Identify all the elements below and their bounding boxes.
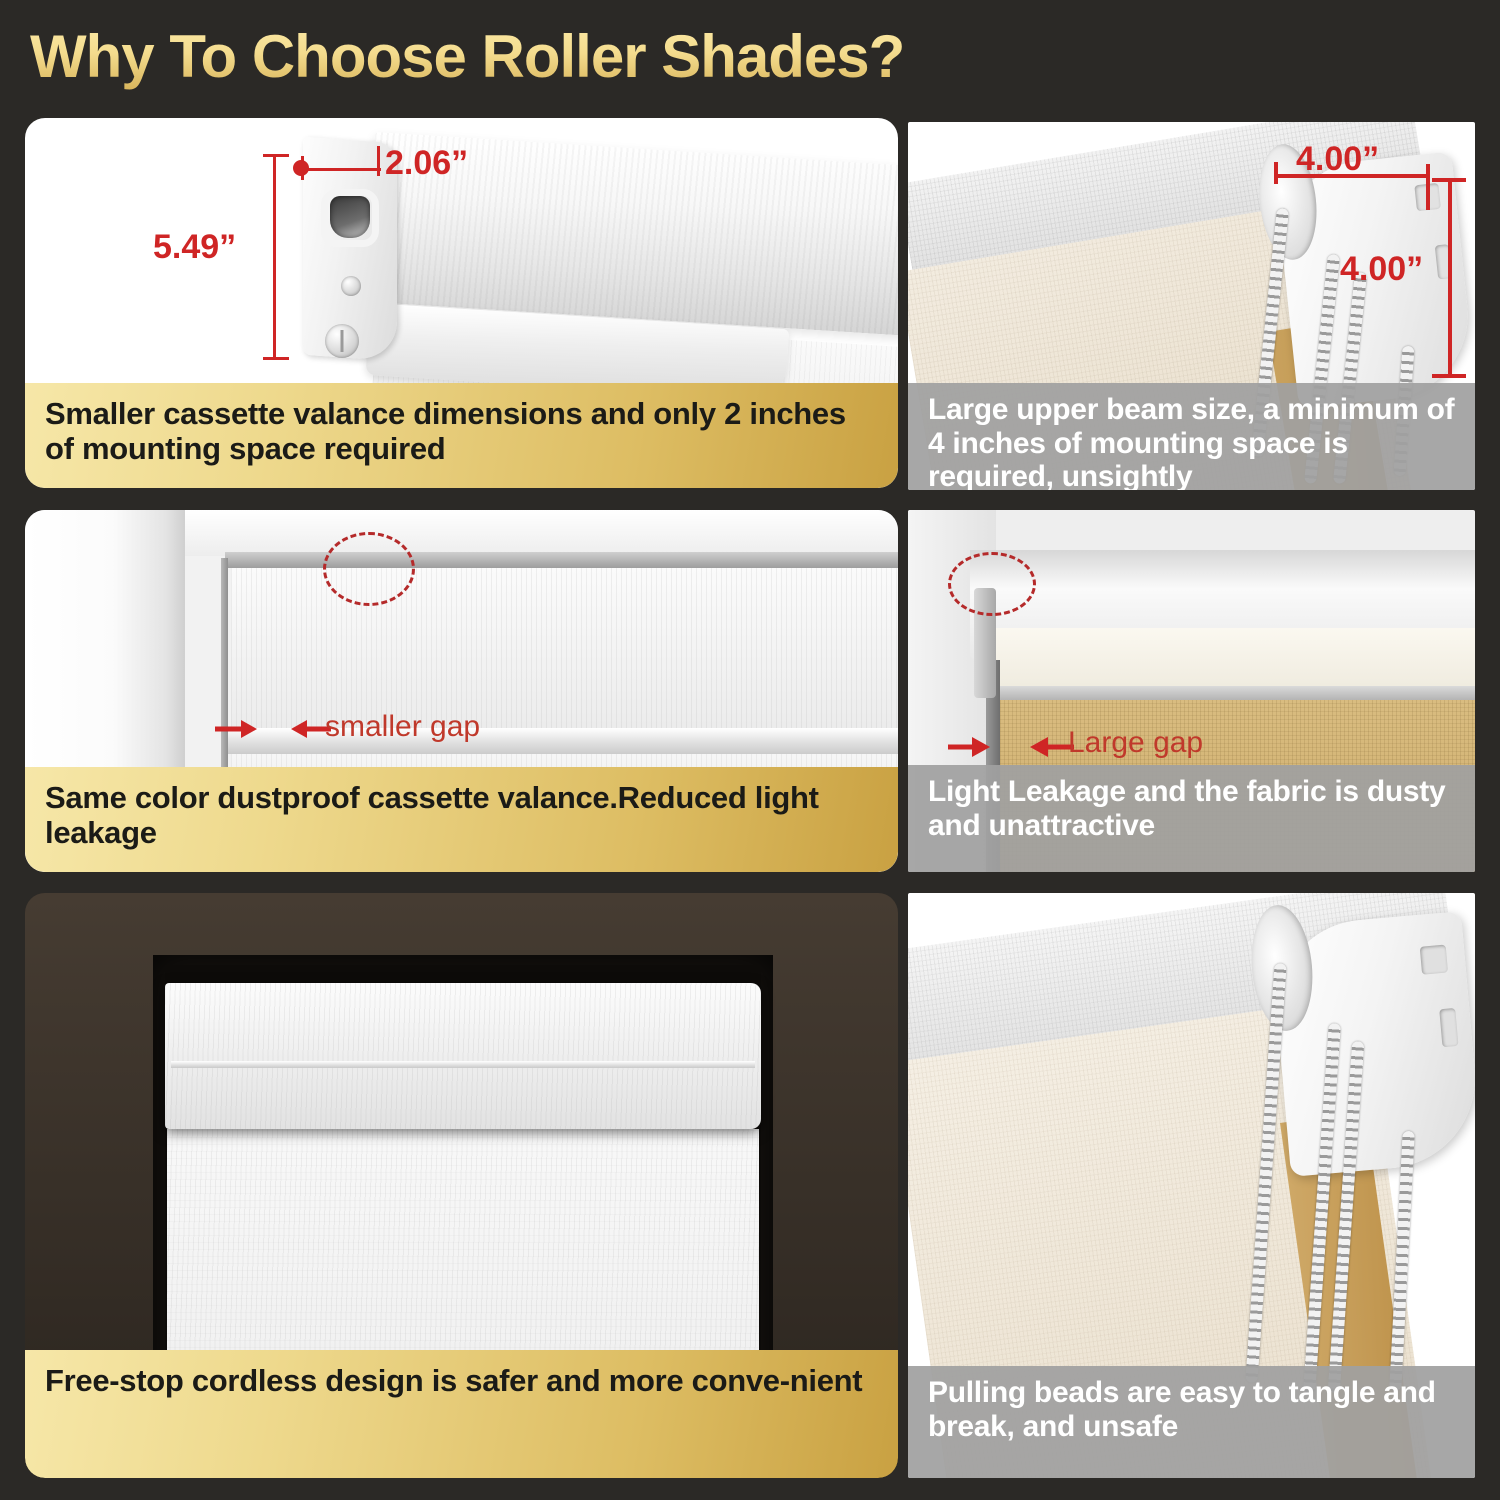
dimension-line-horizontal — [303, 168, 381, 171]
dimension-tick — [1274, 162, 1278, 184]
panel-dustproof-valance[interactable]: smaller gap Same color dustproof cassett… — [25, 510, 898, 872]
dimension-line-vertical — [1448, 180, 1452, 378]
dimension-tick — [1432, 178, 1466, 182]
panel-caption: Large upper beam size, a minimum of 4 in… — [908, 383, 1475, 490]
dimension-tick — [263, 154, 289, 157]
white-band — [994, 628, 1475, 686]
fabric-edge — [994, 686, 1475, 700]
dimension-tick — [377, 146, 380, 176]
dimension-tick — [1426, 164, 1430, 210]
shade-fabric-upper — [231, 568, 898, 728]
cassette-valance-head — [165, 983, 761, 1129]
panel-caption: Pulling beads are easy to tangle and bre… — [908, 1366, 1475, 1478]
panel-cordless-design[interactable]: Free-stop cordless design is safer and m… — [25, 893, 898, 1478]
dimension-label-width: 4.00” — [1296, 140, 1379, 179]
gap-arrow-icon — [213, 710, 333, 748]
panel-caption: Smaller cassette valance dimensions and … — [25, 383, 898, 488]
highlight-circle-icon — [323, 532, 415, 606]
bracket-notch-icon — [1420, 945, 1448, 975]
dimension-label-height: 5.49” — [153, 228, 236, 267]
window-frame-top — [145, 510, 898, 556]
valance-groove — [171, 1061, 755, 1068]
gap-arrow-icon — [946, 728, 1076, 766]
annotation-large-gap: Large gap — [1068, 726, 1203, 760]
panel-smaller-cassette[interactable]: 2.06” 5.49” Smaller cassette valance dim… — [25, 118, 898, 488]
panel-pulling-beads[interactable]: Pulling beads are easy to tangle and bre… — [908, 893, 1475, 1478]
dimension-label-height: 4.00” — [1340, 250, 1423, 289]
bracket-notch-icon — [1439, 1008, 1458, 1047]
dimension-tick — [1432, 374, 1466, 378]
dimension-label-width: 2.06” — [385, 144, 468, 183]
panel-caption: Same color dustproof cassette valance.Re… — [25, 767, 898, 872]
dimension-tick — [263, 357, 289, 360]
comparison-grid: 2.06” 5.49” Smaller cassette valance dim… — [0, 0, 1500, 1500]
panel-large-upper-beam[interactable]: 4.00” 4.00” Large upper beam size, a min… — [908, 122, 1475, 490]
bracket-screw-icon — [341, 276, 361, 296]
highlight-circle-icon — [948, 552, 1036, 616]
panel-caption: Free-stop cordless design is safer and m… — [25, 1350, 898, 1478]
bracket-slot-icon — [330, 196, 370, 238]
annotation-smaller-gap: smaller gap — [325, 710, 480, 744]
panel-light-leakage[interactable]: Large gap Light Leakage and the fabric i… — [908, 510, 1475, 872]
dimension-endpoint-dot — [293, 160, 309, 176]
bracket-screw-icon — [325, 324, 359, 358]
dimension-line-vertical — [273, 154, 276, 360]
panel-caption: Light Leakage and the fabric is dusty an… — [908, 765, 1475, 872]
